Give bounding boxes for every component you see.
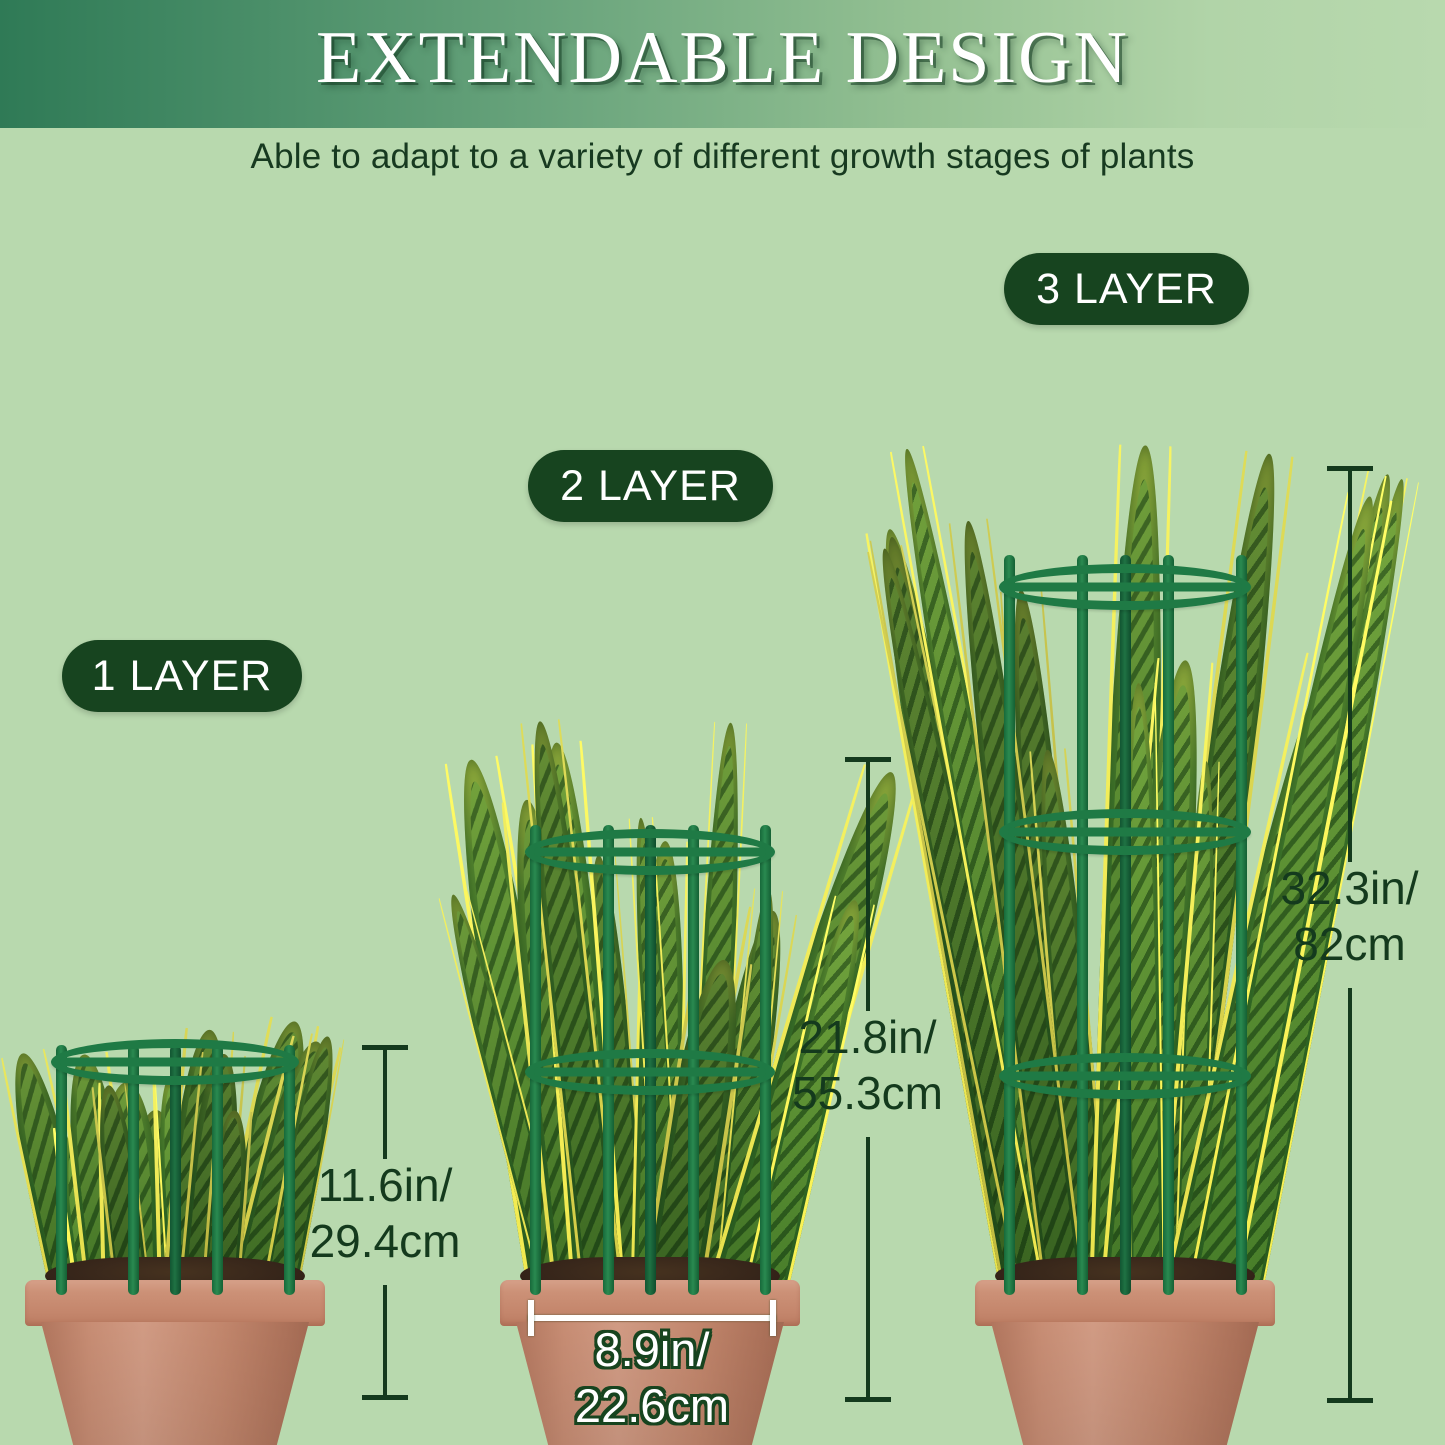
- width-value-cm: 22.6cm: [575, 1379, 729, 1432]
- dimension-value-inches: 21.8in/: [798, 1011, 936, 1063]
- cage-vertical-stake: [1236, 555, 1247, 1295]
- cage-support-ring: [999, 1053, 1251, 1099]
- dimension-label-1-layer: 11.6in/ 29.4cm: [310, 1157, 461, 1269]
- cage-support-ring: [525, 1049, 775, 1095]
- cage-support-ring: [999, 564, 1251, 610]
- page-subtitle: Able to adapt to a variety of different …: [0, 137, 1445, 177]
- cage-ring-crossbar: [1008, 1072, 1242, 1081]
- height-dimension-3-layer: 32.3in/ 82cm: [1262, 466, 1437, 1406]
- cage-vertical-stake: [56, 1045, 67, 1295]
- cage-support-ring: [51, 1039, 299, 1085]
- dimension-line-horizontal: [528, 1315, 776, 1321]
- dimension-value-cm: 55.3cm: [792, 1067, 943, 1119]
- badge-3-layer: 3 LAYER: [1004, 253, 1249, 325]
- cage-vertical-stake: [1163, 555, 1174, 1295]
- cage-ring-crossbar: [1008, 828, 1242, 837]
- page-title: EXTENDABLE DESIGN: [0, 16, 1445, 101]
- height-dimension-2-layer: 21.8in/ 55.3cm: [780, 757, 955, 1402]
- cage-ring-crossbar: [534, 848, 766, 857]
- height-dimension-1-layer: 11.6in/ 29.4cm: [300, 1045, 470, 1400]
- dimension-cap-bottom: [845, 1397, 891, 1402]
- cage-support-ring: [999, 809, 1251, 855]
- dimension-line-upper: [1348, 468, 1352, 862]
- cage-vertical-stake: [284, 1045, 295, 1295]
- dimension-label-3-layer: 32.3in/ 82cm: [1280, 860, 1418, 972]
- cage-vertical-stake: [1077, 555, 1088, 1295]
- dimension-line-upper: [866, 759, 870, 1011]
- dimension-cap-bottom: [1327, 1398, 1373, 1403]
- dimension-value-inches: 11.6in/: [318, 1159, 453, 1211]
- dimension-line-lower: [1348, 988, 1352, 1401]
- cage-ring-crossbar: [60, 1058, 290, 1067]
- dimension-value-cm: 29.4cm: [310, 1215, 461, 1267]
- badge-1-layer: 1 LAYER: [62, 640, 302, 712]
- plant-pot: [25, 1280, 325, 1445]
- plant-pot: [975, 1280, 1275, 1445]
- dimension-label-2-layer: 21.8in/ 55.3cm: [792, 1009, 943, 1121]
- dimension-line-lower: [383, 1285, 387, 1398]
- badge-2-layer: 2 LAYER: [528, 450, 773, 522]
- dimension-line-upper: [383, 1047, 387, 1159]
- cage-vertical-stake: [1004, 555, 1015, 1295]
- dimension-line-lower: [866, 1137, 870, 1400]
- infographic-canvas: EXTENDABLE DESIGN Able to adapt to a var…: [0, 0, 1445, 1445]
- cage-ring-crossbar: [1008, 583, 1242, 592]
- width-dimension-label: 8.9in/ 22.6cm: [480, 1322, 824, 1435]
- cage-ring-crossbar: [534, 1068, 766, 1077]
- dimension-value-cm: 82cm: [1293, 918, 1405, 970]
- cage-vertical-stake: [1120, 555, 1131, 1295]
- product-illustration-3-layer: [960, 435, 1290, 1445]
- dimension-cap-bottom: [362, 1395, 408, 1400]
- cage-support-ring: [525, 829, 775, 875]
- pot-shading: [41, 1322, 309, 1445]
- product-illustration-1-layer: [10, 1000, 340, 1445]
- dimension-value-inches: 32.3in/: [1280, 862, 1418, 914]
- cage-vertical-stake: [760, 825, 771, 1295]
- pot-shading: [991, 1322, 1259, 1445]
- width-value-inches: 8.9in/: [595, 1323, 710, 1376]
